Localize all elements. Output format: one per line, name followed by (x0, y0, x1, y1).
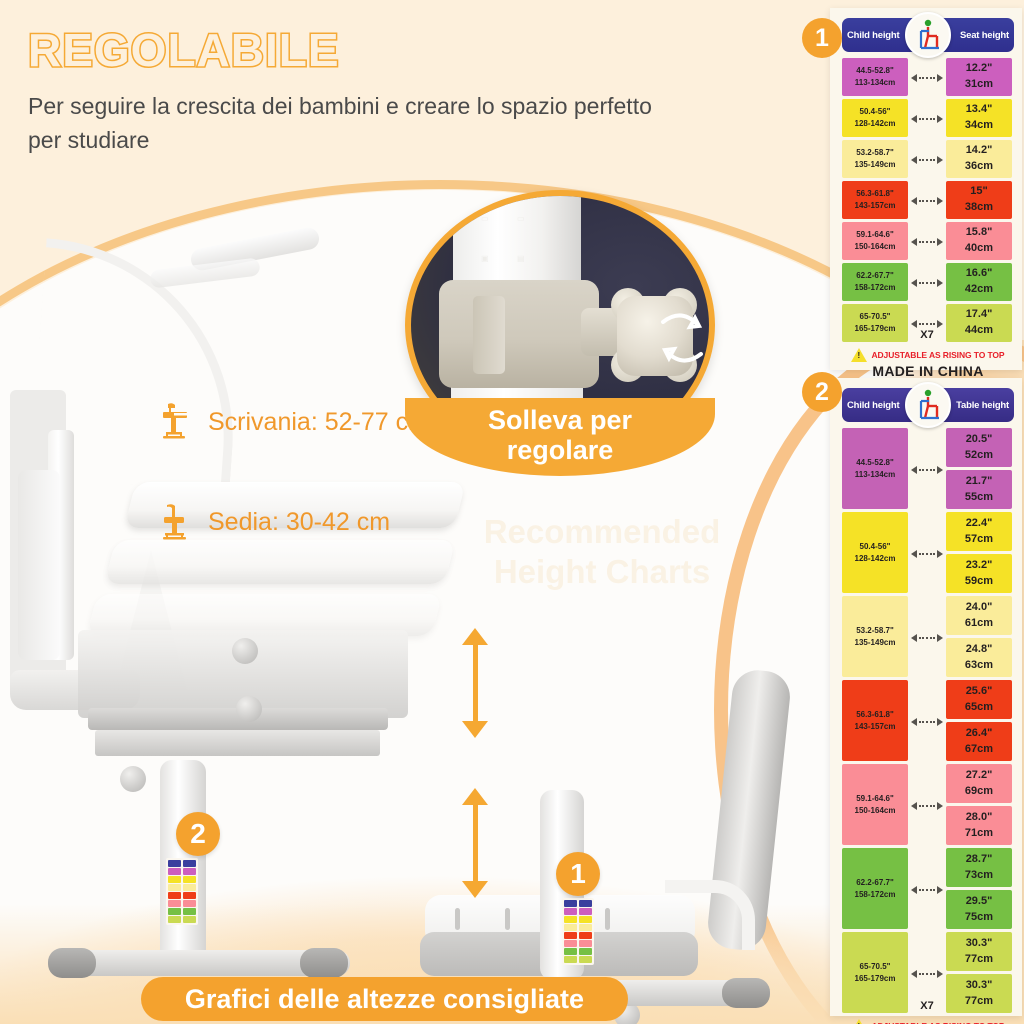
chart-2-table-cell: 24.8"63cm (946, 638, 1012, 677)
chart-2-child-cell: 56.3-61.8"143-157cm (842, 680, 908, 761)
chair-height-arrow (462, 788, 488, 898)
chart-2-header: Child height Table height (842, 388, 1014, 422)
badge-chair-leg: 1 (556, 852, 600, 896)
chart-2-table-height-column: 20.5"52cm21.7"55cm22.4"57cm23.2"59cm24.0… (946, 428, 1012, 1013)
chart-2-child-cell: 44.5-52.8"113-134cm (842, 428, 908, 509)
desk-leg-knob (120, 766, 146, 792)
range-arrow-icon (911, 466, 943, 474)
cell-value-cm: 113-134cm (855, 469, 895, 481)
cell-value-inch: 15" (970, 184, 987, 200)
cell-value-inch: 14.2" (966, 143, 993, 159)
chart-2-table-cell: 30.3"77cm (946, 974, 1012, 1013)
range-arrow-icon (911, 802, 943, 810)
chart-1-seat-cell: 15"38cm (946, 181, 1012, 219)
cell-value-cm: 63cm (965, 658, 993, 674)
cell-value-inch: 26.4" (966, 726, 993, 742)
cell-value-cm: 150-164cm (855, 241, 896, 253)
cell-value-inch: 50.4-56" (860, 106, 891, 118)
cell-value-inch: 16.6" (966, 266, 993, 282)
chart-2-arrows-column: X7 (908, 428, 946, 1013)
chart-2-child-cell: 65-70.5"165-179cm (842, 932, 908, 1013)
cell-value-inch: 65-70.5" (860, 961, 891, 973)
chart-1-warning-row: ADJUSTABLE AS RISING TO TOP (842, 348, 1014, 362)
chart-2-table-cell: 28.0"71cm (946, 806, 1012, 845)
chart-1-child-height-column: 44.5-52.8"113-134cm50.4-56"128-142cm53.2… (842, 58, 908, 342)
cell-value-inch: 24.8" (966, 642, 993, 658)
chart-1-seat-cell: 17.4"44cm (946, 304, 1012, 342)
chart-2-child-cell: 62.2-67.7"158-172cm (842, 848, 908, 929)
cell-value-inch: 28.7" (966, 852, 993, 868)
chart-1-seat-cell: 12.2"31cm (946, 58, 1012, 96)
chart-2-child-cell: 59.1-64.6"150-164cm (842, 764, 908, 845)
chart-1-seat-cell: 16.6"42cm (946, 263, 1012, 301)
seat-slot (455, 908, 460, 930)
chart-2-col-right-header: Table height (956, 400, 1009, 411)
cell-value-cm: 165-179cm (855, 323, 896, 335)
chart-2-warning-row: ADJUSTABLE AS RISING TO TOP (842, 1019, 1014, 1024)
chart-1-header: Child height Seat height (842, 18, 1014, 52)
cell-value-cm: 55cm (965, 490, 993, 506)
chart-2-child-cell: 53.2-58.7"135-149cm (842, 596, 908, 677)
desk-knob-upper (232, 638, 258, 664)
spec-desk-label: Scrivania: 52-77 cm (208, 408, 429, 437)
desktop-ghost-mid (105, 540, 456, 584)
tube-mark: ▣ (481, 254, 490, 263)
range-arrow-icon (911, 238, 943, 246)
cell-value-inch: 53.2-58.7" (856, 625, 894, 637)
seated-child-icon (905, 12, 951, 58)
chart-2-table-cell: 24.0"61cm (946, 596, 1012, 635)
chart-2-col-left-header: Child height (847, 400, 899, 411)
cell-value-inch: 23.2" (966, 558, 993, 574)
cell-value-inch: 17.4" (966, 307, 993, 323)
cell-value-cm: 61cm (965, 616, 993, 632)
cell-value-cm: 57cm (965, 532, 993, 548)
cell-value-inch: 59.1-64.6" (856, 793, 894, 805)
chair-foot-cap-right (722, 978, 770, 1008)
chart-2-table-cell: 22.4"57cm (946, 512, 1012, 551)
cell-value-cm: 158-172cm (855, 282, 896, 294)
cell-value-cm: 69cm (965, 784, 993, 800)
chart-1-child-cell: 65-70.5"165-179cm (842, 304, 908, 342)
cell-value-cm: 31cm (965, 77, 993, 93)
chart-2-table-cell: 27.2"69cm (946, 764, 1012, 803)
cell-value-cm: 59cm (965, 574, 993, 590)
cell-value-inch: 62.2-67.7" (856, 877, 894, 889)
tube-mark: ▭ (517, 214, 526, 223)
chair-icon (160, 502, 194, 542)
chart-1-child-cell: 59.1-64.6"150-164cm (842, 222, 908, 260)
cell-value-cm: 150-164cm (855, 805, 896, 817)
desk-knob-lower (236, 696, 262, 722)
page-title: REGOLABILE (28, 26, 668, 74)
cell-value-cm: 143-157cm (855, 721, 896, 733)
warning-triangle-icon (851, 1019, 867, 1024)
cell-value-cm: 52cm (965, 448, 993, 464)
cell-value-inch: 13.4" (966, 102, 993, 118)
desk-icon (160, 402, 194, 442)
cell-value-cm: 158-172cm (855, 889, 896, 901)
chart-1-col-right-header: Seat height (960, 30, 1009, 41)
cell-value-cm: 44cm (965, 323, 993, 339)
range-arrow-icon (911, 634, 943, 642)
cell-value-cm: 77cm (965, 952, 993, 968)
bottom-banner: Grafici delle altezze consigliate (141, 977, 628, 1021)
leg-sticker-desk (166, 858, 198, 925)
cell-value-inch: 22.4" (966, 516, 993, 532)
chart-1-badge: 1 (802, 18, 842, 58)
tube-mark: ▭ (481, 214, 490, 223)
cell-value-inch: 24.0" (966, 600, 993, 616)
cell-value-inch: 62.2-67.7" (856, 270, 894, 282)
range-arrow-icon (911, 886, 943, 894)
range-arrow-icon (911, 970, 943, 978)
cell-value-cm: 38cm (965, 200, 993, 216)
chart-1-col-left-header: Child height (847, 30, 899, 41)
spec-desk: Scrivania: 52-77 cm (160, 402, 429, 442)
cell-value-inch: 29.5" (966, 894, 993, 910)
desk-height-arrow (462, 628, 488, 738)
cell-value-cm: 143-157cm (855, 200, 896, 212)
page-subtitle: Per seguire la crescita dei bambini e cr… (28, 90, 668, 157)
rotate-arrows-icon (647, 292, 715, 382)
spec-chair: Sedia: 30-42 cm (160, 502, 390, 542)
warning-triangle-icon (851, 348, 867, 362)
chart-card-table-height: Child height Table height (830, 378, 1022, 1016)
chart-1-origin: MADE IN CHINA (842, 363, 1014, 379)
cell-value-cm: 128-142cm (855, 553, 896, 565)
chart-2-badge: 2 (802, 372, 842, 412)
chart-2-table-cell: 29.5"75cm (946, 890, 1012, 929)
leg-sticker-chair (562, 898, 594, 965)
cell-value-cm: 128-142cm (855, 118, 896, 130)
chart-2-body: 44.5-52.8"113-134cm50.4-56"128-142cm53.2… (842, 428, 1014, 1013)
chart-2-table-cell: 30.3"77cm (946, 932, 1012, 971)
chart-2-table-cell: 20.5"52cm (946, 428, 1012, 467)
seated-child-icon (905, 382, 951, 428)
badge-desk-leg: 2 (176, 812, 220, 856)
spec-chair-label: Sedia: 30-42 cm (208, 508, 390, 537)
chart-1-arrows-column: X7 (908, 58, 946, 342)
chart-2-multiplier: X7 (920, 1000, 933, 1012)
cell-value-cm: 36cm (965, 159, 993, 175)
cell-value-cm: 34cm (965, 118, 993, 134)
cell-value-inch: 12.2" (966, 61, 993, 77)
chart-2-table-cell: 28.7"73cm (946, 848, 1012, 887)
cell-value-cm: 67cm (965, 742, 993, 758)
chart-2-footer: ADJUSTABLE AS RISING TO TOP MADE IN CHIN… (842, 1019, 1014, 1024)
callout-banner-line1: Solleva per (488, 405, 632, 435)
cell-value-cm: 40cm (965, 241, 993, 257)
cell-value-inch: 56.3-61.8" (856, 188, 894, 200)
cell-value-cm: 77cm (965, 994, 993, 1010)
cell-value-cm: 73cm (965, 868, 993, 884)
range-arrow-icon (911, 74, 943, 82)
chart-1-child-cell: 50.4-56"128-142cm (842, 99, 908, 137)
cell-value-cm: 71cm (965, 826, 993, 842)
seat-slot (505, 908, 510, 930)
cell-value-inch: 28.0" (966, 810, 993, 826)
cell-value-cm: 135-149cm (855, 637, 896, 649)
cell-value-inch: 59.1-64.6" (856, 229, 894, 241)
cell-value-cm: 113-134cm (855, 77, 895, 89)
chart-2-table-cell: 26.4"67cm (946, 722, 1012, 761)
cell-value-inch: 53.2-58.7" (856, 147, 894, 159)
cell-value-cm: 75cm (965, 910, 993, 926)
cell-value-inch: 27.2" (966, 768, 993, 784)
chart-2-child-height-column: 44.5-52.8"113-134cm50.4-56"128-142cm53.2… (842, 428, 908, 1013)
chart-1-seat-cell: 14.2"36cm (946, 140, 1012, 178)
seat-slot (605, 908, 610, 930)
chart-1-seat-cell: 15.8"40cm (946, 222, 1012, 260)
cell-value-inch: 65-70.5" (860, 311, 891, 323)
desk-drawer (95, 730, 380, 756)
chart-1-body: 44.5-52.8"113-134cm50.4-56"128-142cm53.2… (842, 58, 1014, 342)
desk-foot-cap-left (48, 948, 96, 978)
cell-value-inch: 56.3-61.8" (856, 709, 894, 721)
header-block: REGOLABILE Per seguire la crescita dei b… (28, 26, 668, 157)
chart-2-inner: Child height Table height (842, 388, 1014, 1024)
callout-collar-tab (473, 296, 505, 374)
chart-1-child-cell: 56.3-61.8"143-157cm (842, 181, 908, 219)
cell-value-inch: 15.8" (966, 225, 993, 241)
cell-value-inch: 30.3" (966, 936, 993, 952)
range-arrow-icon (911, 550, 943, 558)
range-arrow-icon (911, 197, 943, 205)
callout-banner-line2: regolare (507, 435, 614, 465)
cell-value-inch: 21.7" (966, 474, 993, 490)
chart-1-seat-cell: 13.4"34cm (946, 99, 1012, 137)
chart-2-table-cell: 21.7"55cm (946, 470, 1012, 509)
cell-value-inch: 30.3" (966, 978, 993, 994)
chart-1-footer: ADJUSTABLE AS RISING TO TOP MADE IN CHIN… (842, 348, 1014, 379)
lamp-clamp (18, 470, 60, 660)
range-arrow-icon (911, 156, 943, 164)
chart-1-child-cell: 62.2-67.7"158-172cm (842, 263, 908, 301)
chart-1-seat-height-column: 12.2"31cm13.4"34cm14.2"36cm15"38cm15.8"4… (946, 58, 1012, 342)
chart-2-table-cell: 23.2"59cm (946, 554, 1012, 593)
chart-1-child-cell: 53.2-58.7"135-149cm (842, 140, 908, 178)
cell-value-inch: 44.5-52.8" (856, 457, 894, 469)
tube-mark: ▤ (517, 254, 526, 263)
range-arrow-icon (911, 115, 943, 123)
range-arrow-icon (911, 320, 943, 328)
cell-value-inch: 20.5" (966, 432, 993, 448)
cell-value-inch: 44.5-52.8" (856, 65, 894, 77)
chart-card-seat-height: Child height Seat height (830, 8, 1022, 370)
range-arrow-icon (911, 279, 943, 287)
chart-2-child-cell: 50.4-56"128-142cm (842, 512, 908, 593)
desk-foot-cap-right (300, 948, 348, 978)
callout-collar (439, 280, 599, 388)
cell-value-cm: 65cm (965, 700, 993, 716)
chart-1-child-cell: 44.5-52.8"113-134cm (842, 58, 908, 96)
chart-1-warning-text: ADJUSTABLE AS RISING TO TOP (871, 350, 1004, 360)
cell-value-cm: 165-179cm (855, 973, 896, 985)
cell-value-inch: 25.6" (966, 684, 993, 700)
chart-2-table-cell: 25.6"65cm (946, 680, 1012, 719)
cell-value-inch: 50.4-56" (860, 541, 891, 553)
cell-value-cm: 42cm (965, 282, 993, 298)
range-arrow-icon (911, 718, 943, 726)
chart-1-inner: Child height Seat height (842, 18, 1014, 379)
infographic-page: REGOLABILE Per seguire la crescita dei b… (0, 0, 1024, 1024)
chart-1-multiplier: X7 (920, 329, 933, 341)
cell-value-cm: 135-149cm (855, 159, 896, 171)
